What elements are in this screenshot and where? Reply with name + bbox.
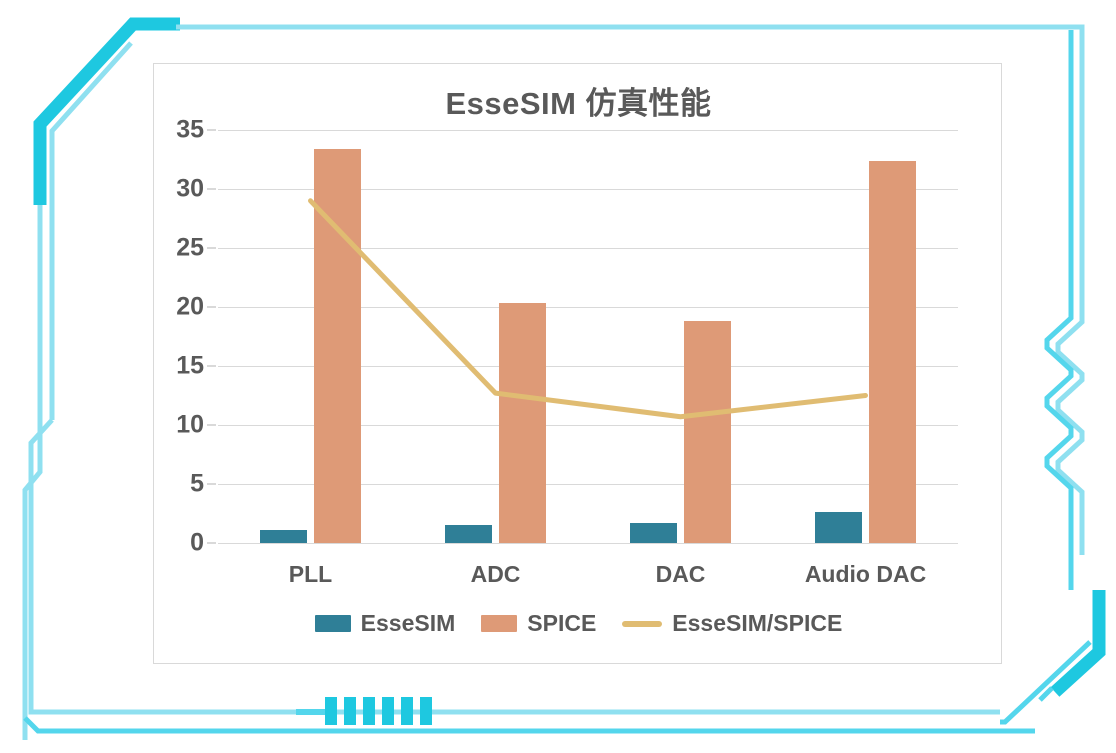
y-axis-tick-label: 25 <box>176 234 204 263</box>
y-axis-tick-mark <box>207 483 216 485</box>
line-series-overlay <box>218 130 958 543</box>
legend-color-swatch-icon <box>315 615 351 632</box>
legend-label: EsseSIM <box>361 610 456 637</box>
capacitor-bar <box>344 697 356 725</box>
legend-label: SPICE <box>527 610 596 637</box>
y-axis-tick-mark <box>207 129 216 131</box>
circuit-thin-bottom-right-b <box>1040 688 1052 700</box>
legend-item[interactable]: SPICE <box>481 610 596 637</box>
y-axis-tick-mark <box>207 424 216 426</box>
capacitor-bar <box>420 697 432 725</box>
chart-container: EsseSIM 仿真性能 35302520151050 PLLADCDACAud… <box>153 63 1002 664</box>
y-axis-tick-mark <box>207 188 216 190</box>
legend-item[interactable]: EsseSIM/SPICE <box>622 610 842 637</box>
y-axis-tick-label: 30 <box>176 175 204 204</box>
circuit-zigzag-right-outer <box>1058 238 1082 555</box>
x-axis-tick-label: Audio DAC <box>773 561 958 588</box>
y-axis-tick-label: 15 <box>176 352 204 381</box>
x-axis-tick-label: DAC <box>588 561 773 588</box>
legend-line-swatch-icon <box>622 621 662 627</box>
circuit-thin-bottom-right-a <box>1000 642 1090 722</box>
circuit-thick-bottom-right <box>1055 590 1099 692</box>
y-axis-tick-label: 20 <box>176 293 204 322</box>
y-axis-tick-label: 35 <box>176 116 204 145</box>
capacitor-bar <box>363 697 375 725</box>
y-axis-tick-mark <box>207 542 216 544</box>
capacitor-bar <box>382 697 394 725</box>
y-axis-tick-mark <box>207 247 216 249</box>
y-axis-tick-label: 0 <box>190 529 204 558</box>
chart-legend: EsseSIMSPICEEsseSIM/SPICE <box>154 610 1003 637</box>
x-axis-tick-label: PLL <box>218 561 403 588</box>
chart-title: EsseSIM 仿真性能 <box>154 78 1003 123</box>
y-axis-tick-mark <box>207 365 216 367</box>
legend-label: EsseSIM/SPICE <box>672 610 842 637</box>
y-axis-tick-label: 5 <box>190 470 204 499</box>
gridline <box>218 543 958 544</box>
circuit-zigzag-right-inner <box>1047 30 1071 590</box>
circuit-thin-top-left <box>52 43 131 420</box>
circuit-thin-bottom-outer <box>25 718 1035 731</box>
slide-canvas: EsseSIM 仿真性能 35302520151050 PLLADCDACAud… <box>0 0 1116 753</box>
x-axis-tick-label: ADC <box>403 561 588 588</box>
plot-area: 35302520151050 PLLADCDACAudio DAC <box>218 130 958 543</box>
legend-color-swatch-icon <box>481 615 517 632</box>
line-series-essesim-spice <box>311 201 866 417</box>
legend-item[interactable]: EsseSIM <box>315 610 456 637</box>
capacitor-bar <box>325 697 337 725</box>
capacitor-bar <box>401 697 413 725</box>
y-axis-tick-mark <box>207 306 216 308</box>
y-axis-tick-label: 10 <box>176 411 204 440</box>
circuit-thin-left-lower <box>25 205 40 740</box>
